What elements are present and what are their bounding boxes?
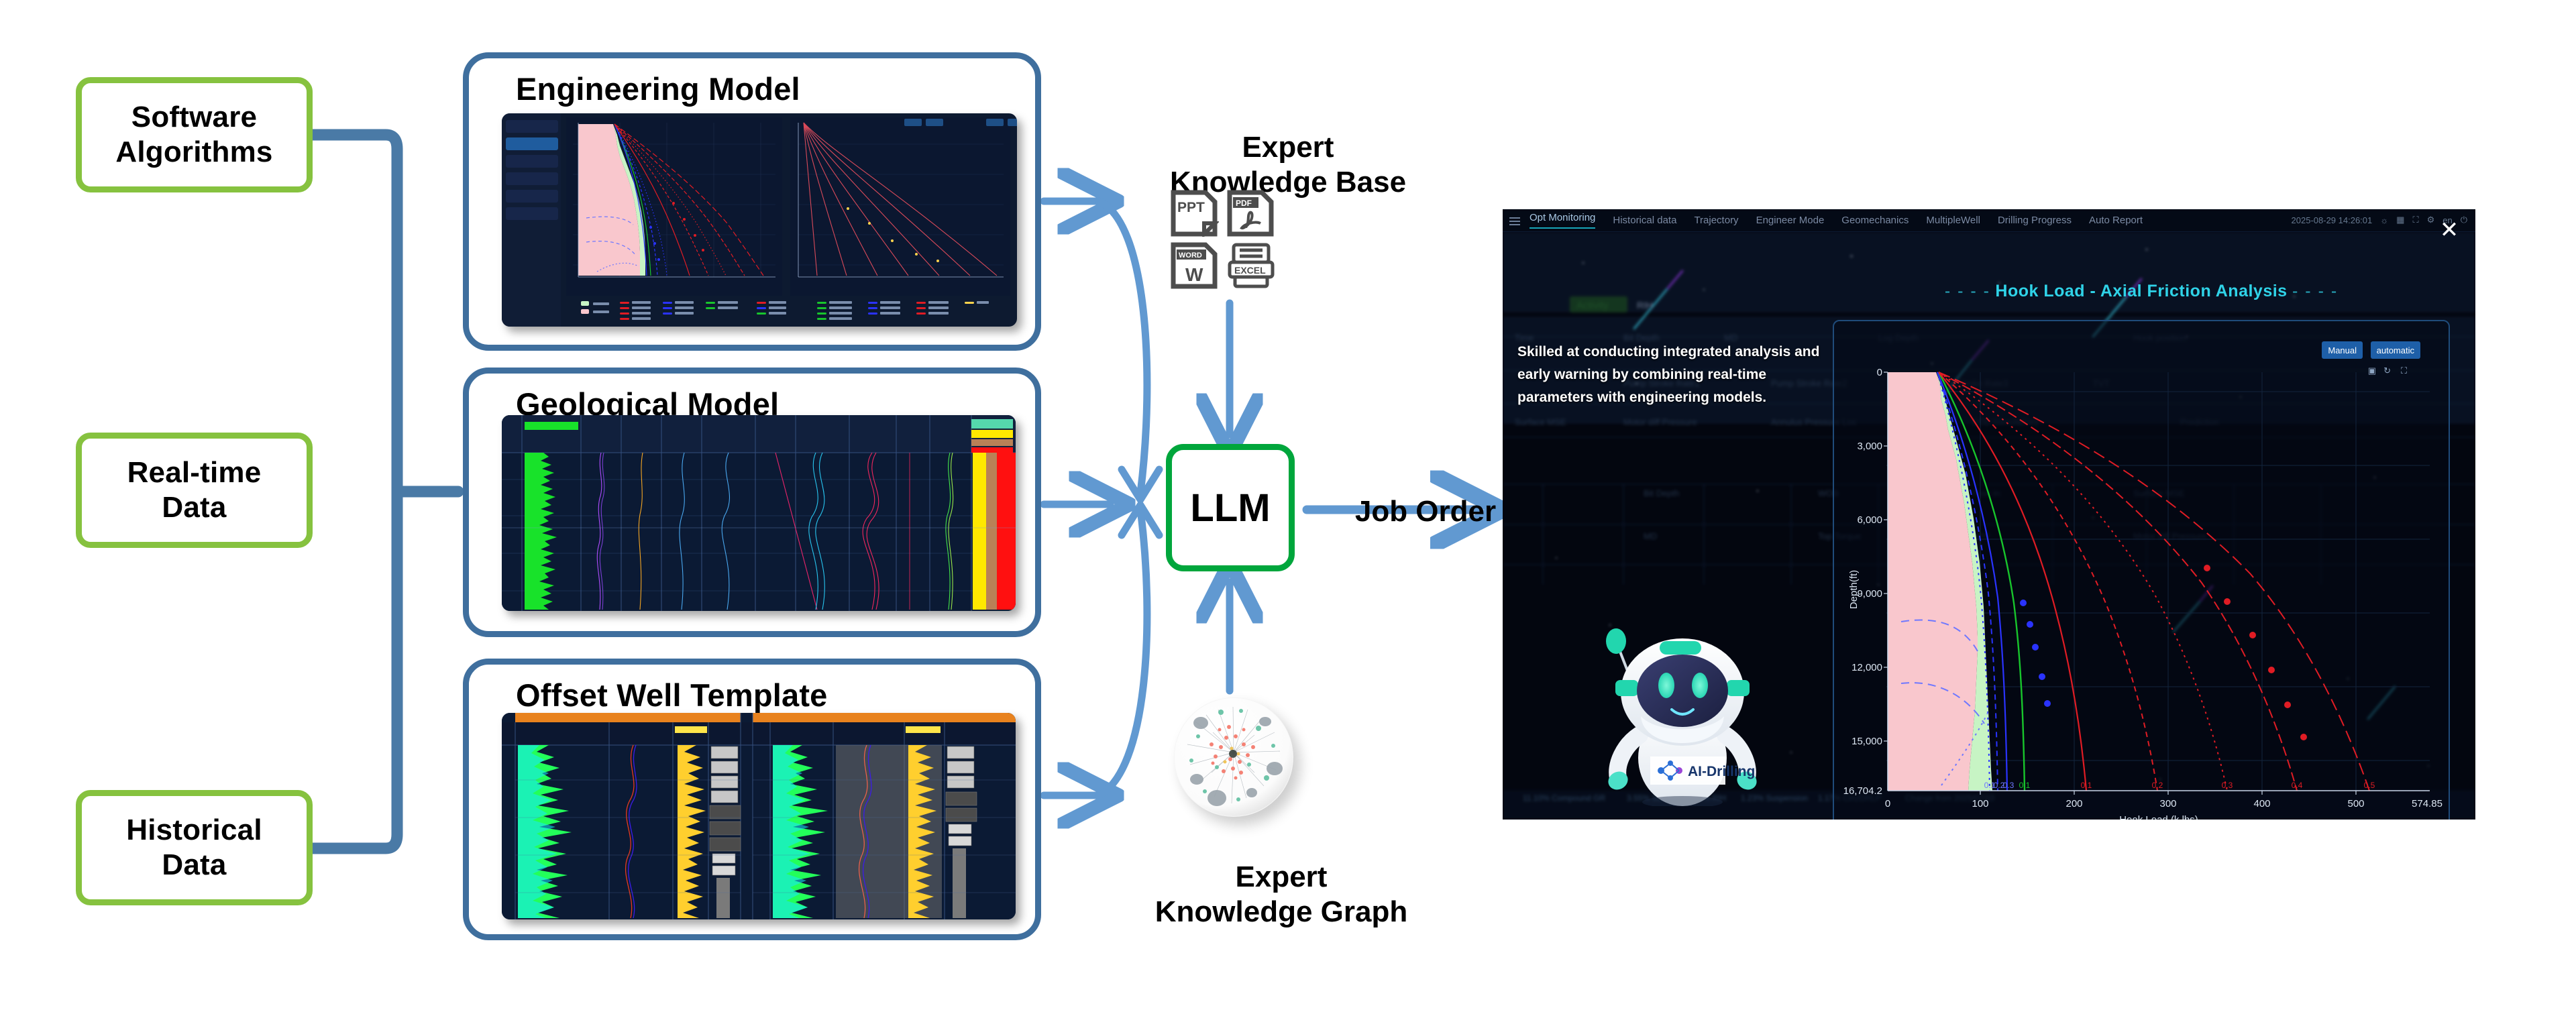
tab-drilling-progress[interactable]: Drilling Progress [1998,215,2072,226]
assistant-skill-text: Skilled at conducting integrated analysi… [1517,341,1833,409]
input-label: Real-time Data [127,455,262,525]
ff-green-01: 0.1 [2019,781,2031,790]
x-tick-200: 200 [2065,798,2082,809]
nav-timestamp: 2025-08-29 14:26:01 [2292,215,2373,225]
eng-plot-left [566,117,782,296]
ff-blue-03: 0.3 [2003,781,2015,790]
knowledge-graph-sphere-icon[interactable] [1174,697,1293,817]
bell-icon[interactable]: ☼ [2380,215,2388,225]
tab-opt-monitoring[interactable]: Opt Monitoring [1529,212,1595,229]
refresh-icon[interactable]: ↻ [2383,365,2391,376]
tab-multiple-well[interactable]: MultipleWell [1926,215,1980,226]
word-glyph: W [1185,264,1203,285]
diagram-canvas: Software Algorithms Real-time Data Histo… [0,0,2576,1014]
ff-red-05: 0.5 [2364,781,2375,790]
manual-mode-button[interactable]: Manual [2322,341,2363,359]
chart-title-text: Hook Load - Axial Friction Analysis [1995,282,2287,300]
expand-icon[interactable]: ⛶ [2401,365,2407,376]
model-output-arrows [1044,201,1110,795]
ai-drilling-app-window[interactable]: TimeBit Depth MDLog Depth Hook position … [1503,209,2475,820]
label-text: Job Order [1355,495,1496,528]
engineering-model-screenshot [502,113,1017,327]
svg-text:MD: MD [1644,531,1657,541]
ppt-label: PPT [1177,200,1205,215]
excel-label: EXCEL [1234,265,1266,276]
x-tick-400: 400 [2253,798,2270,809]
hook-load-chart-panel[interactable]: Manual automatic ▣ ↻ ⛶ [1833,320,2450,820]
model-card-offset-well[interactable]: Offset Well Template [463,659,1041,940]
series-red-05 [1939,372,2369,791]
ff-red-02: 0.2 [2152,781,2163,790]
svg-text:Bit Depth: Bit Depth [1644,488,1679,498]
input-box-historical-data[interactable]: Historical Data [76,790,313,905]
tab-historical-data[interactable]: Historical data [1613,215,1676,226]
svg-text:Motor diff Pressure: Motor diff Pressure [1623,417,1697,427]
title-decor-right: - - - - [2292,282,2338,300]
automatic-mode-button[interactable]: automatic [2371,341,2420,359]
y-tick-0: 0 [1877,367,1882,378]
tab-engineer-mode[interactable]: Engineer Mode [1756,215,1825,226]
red-measured-points [2204,565,2307,740]
grid-icon[interactable]: ▦ [2396,215,2404,225]
label-text: Expert Knowledge Base [1170,131,1406,199]
ff-red-04: 0.4 [2292,781,2303,790]
eng-legend [502,297,1017,324]
offset-well-template-screenshot [502,713,1016,919]
expand-icon[interactable]: ⛶ [2412,215,2418,225]
x-tick-100: 100 [1972,798,1988,809]
y-tick-6000: 6,000 [1857,514,1882,526]
merge-rails [1099,201,1147,795]
pdf-file-icon[interactable]: PDF [1227,190,1275,237]
card-title: Offset Well Template [516,677,828,714]
chart-title: - - - - Hook Load - Axial Friction Analy… [1833,282,2450,301]
llm-label: LLM [1190,486,1270,530]
x-tick-0: 0 [1885,798,1890,809]
app-nav-bar[interactable]: Opt Monitoring Historical data Trajector… [1503,209,2475,232]
pdf-label: PDF [1236,199,1252,208]
y-tick-12000: 12,000 [1851,662,1882,673]
input-box-software-algorithms[interactable]: Software Algorithms [76,77,313,192]
title-decor-left: - - - - [1945,282,1990,300]
ai-drilling-robot-avatar: AI-Drilling [1570,585,1791,806]
x-axis-label: Hook Load (k lbs) [2119,814,2198,820]
ppt-file-icon[interactable]: PPT [1171,190,1219,237]
word-file-icon[interactable]: WORD W [1171,242,1219,289]
svg-text:Surface MSE: Surface MSE [1515,417,1566,427]
expert-knowledge-base-label: Expert Knowledge Base [1100,95,1476,200]
input-label: Historical Data [126,813,262,883]
tab-geomechanics[interactable]: Geomechanics [1841,215,1909,226]
hook-load-plot: 0 3,000 6,000 9,000 12,000 15,000 16,704… [1834,321,2449,820]
ff-red-03: 0.3 [2222,781,2233,790]
model-card-engineering[interactable]: Engineering Model [463,52,1041,351]
y-tick-9000: 9,000 [1857,588,1882,600]
settings-icon[interactable]: ⚙ [2427,215,2435,225]
y-tick-15000: 15,000 [1851,736,1882,747]
x-tick-500: 500 [2347,798,2364,809]
svg-text:RIH: RIH [1637,300,1653,311]
blue-measured-points [2020,600,2051,707]
model-card-geological[interactable]: Geological Model [463,368,1041,637]
camera-icon[interactable]: ▣ [2368,365,2376,376]
tripping-envelope-area [1888,372,1978,791]
input-label: Software Algorithms [115,100,272,170]
y-axis-label: Depth(ft) [1848,570,1860,609]
input-bracket [313,135,458,848]
series-red-04 [1939,372,2297,791]
x-tick-300: 300 [2159,798,2176,809]
knowledge-base-file-icons: PPT PDF WORD W [1171,190,1278,290]
tab-trajectory[interactable]: Trajectory [1694,215,1738,226]
expert-knowledge-graph-label: Expert Knowledge Graph [1093,825,1469,929]
llm-node[interactable]: LLM [1166,444,1295,571]
close-icon[interactable]: ✕ [2438,219,2461,241]
y-tick-max: 16,704.2 [1843,785,1882,797]
eng-plot-right [790,117,1010,296]
merge-arrowheads [1122,469,1159,535]
robot-brand-label: AI-Drilling [1688,764,1755,779]
tab-auto-report[interactable]: Auto Report [2089,215,2143,226]
excel-file-icon[interactable]: EXCEL [1227,242,1275,289]
label-text: Expert Knowledge Graph [1155,860,1407,928]
geological-model-screenshot [502,415,1016,611]
card-title: Engineering Model [516,70,800,107]
x-tick-max: 574.85 [2412,798,2443,809]
power-icon[interactable]: ⏻ [2461,215,2467,225]
ff-red-01: 0.1 [2081,781,2092,790]
eng-sidebar [502,113,561,327]
word-label: WORD [1179,251,1202,260]
hamburger-menu-icon[interactable] [1509,215,1520,226]
y-tick-3000: 3,000 [1857,441,1882,452]
input-box-real-time-data[interactable]: Real-time Data [76,433,313,548]
